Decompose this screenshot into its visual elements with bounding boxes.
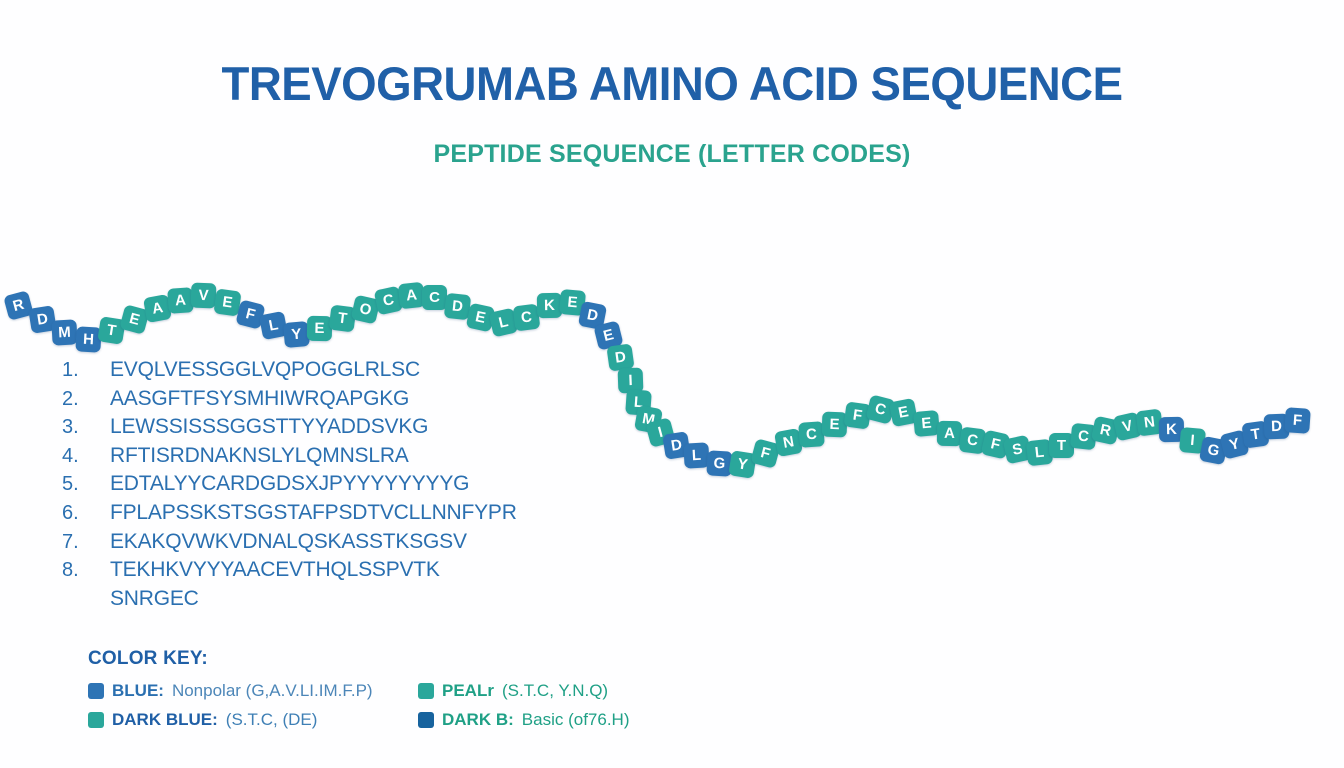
amino-acid-bead[interactable]: C bbox=[798, 421, 825, 448]
color-key-description: Nonpolar (G,A.V.LI.IM.F.P) bbox=[172, 681, 373, 701]
color-key-title: COLOR KEY: bbox=[88, 648, 688, 670]
color-key-label: DARK BLUE: bbox=[112, 710, 218, 730]
page-title: TREVOGRUMAB AMINO ACID SEQUENCE bbox=[20, 56, 1324, 111]
sequence-line: 4.RFTISRDNAKNSLYLQMNSLRA bbox=[62, 444, 582, 473]
sequence-line-text: EDTALYYCARDGDSXJPYYYYYYYYG bbox=[110, 472, 469, 496]
color-key-item: DARK B:Basic (of76.H) bbox=[418, 710, 698, 730]
sequence-line-text: EVQLVESSGGLVQPOGGLRLSC bbox=[110, 358, 420, 382]
sequence-line: 6.FPLAPSSKSTSGSTAFPSDTVCLLNNFYPR bbox=[62, 501, 582, 530]
color-key-item: PEALr(S.T.C, Y.N.Q) bbox=[418, 681, 698, 701]
sequence-line-number: 1. bbox=[62, 359, 110, 382]
amino-acid-bead[interactable]: V bbox=[191, 283, 217, 309]
page-subtitle: PEPTIDE SEQUENCE (LETTER CODES) bbox=[0, 140, 1344, 169]
sequence-line: 3.LEWSSISSSGGSTTYYADDSVKG bbox=[62, 415, 582, 444]
sequence-line-text: LEWSSISSSGGSTTYYADDSVKG bbox=[110, 415, 428, 439]
sequence-line-text: EKAKQVWKVDNALQSKASSTKSGSV bbox=[110, 530, 467, 554]
sequence-line-text: RFTISRDNAKNSLYLQMNSLRA bbox=[110, 444, 409, 468]
sequence-line-number: 7. bbox=[62, 531, 110, 554]
sequence-line: 8.TEKHKVYYYAACEVTHQLSSPVTK bbox=[62, 558, 582, 587]
amino-acid-bead[interactable]: K bbox=[537, 293, 562, 318]
sequence-line: SNRGEC bbox=[62, 587, 582, 616]
color-swatch-icon bbox=[88, 683, 104, 699]
color-swatch-icon bbox=[88, 712, 104, 728]
color-key-label: DARK B: bbox=[442, 710, 514, 730]
color-key-item: BLUE:Nonpolar (G,A.V.LI.IM.F.P) bbox=[88, 681, 418, 701]
sequence-line: 7.EKAKQVWKVDNALQSKASSTKSGSV bbox=[62, 530, 582, 559]
sequence-line: 2.AASGFTFSYSMHIWRQAPGKG bbox=[62, 387, 582, 416]
amino-acid-bead[interactable]: C bbox=[422, 285, 447, 310]
color-swatch-icon bbox=[418, 683, 434, 699]
color-key-description: (S.T.C, Y.N.Q) bbox=[502, 681, 608, 701]
sequence-line-number: 4. bbox=[62, 445, 110, 468]
infographic-canvas: TREVOGRUMAB AMINO ACID SEQUENCE PEPTIDE … bbox=[0, 0, 1344, 768]
amino-acid-bead[interactable]: L bbox=[683, 442, 709, 468]
sequence-list: 1.EVQLVESSGGLVQPOGGLRLSC2.AASGFTFSYSMHIW… bbox=[62, 358, 582, 615]
sequence-line-text: SNRGEC bbox=[110, 587, 199, 611]
sequence-line-number: 2. bbox=[62, 388, 110, 411]
sequence-line-number: 5. bbox=[62, 473, 110, 496]
amino-acid-bead[interactable]: E bbox=[307, 316, 332, 341]
sequence-line-number: 8. bbox=[62, 559, 110, 582]
sequence-line-number: 3. bbox=[62, 416, 110, 439]
amino-acid-bead[interactable]: E bbox=[822, 412, 848, 438]
amino-acid-bead[interactable]: F bbox=[1284, 407, 1311, 434]
sequence-line-text: AASGFTFSYSMHIWRQAPGKG bbox=[110, 387, 409, 411]
sequence-line: 1.EVQLVESSGGLVQPOGGLRLSC bbox=[62, 358, 582, 387]
sequence-line-text: TEKHKVYYYAACEVTHQLSSPVTK bbox=[110, 558, 440, 582]
color-key-label: PEALr bbox=[442, 681, 494, 701]
color-swatch-icon bbox=[418, 712, 434, 728]
amino-acid-bead[interactable]: M bbox=[51, 319, 77, 345]
color-key: COLOR KEY: BLUE:Nonpolar (G,A.V.LI.IM.F.… bbox=[88, 648, 688, 734]
amino-acid-bead[interactable]: A bbox=[937, 421, 962, 446]
sequence-line-text: FPLAPSSKSTSGSTAFPSDTVCLLNNFYPR bbox=[110, 501, 517, 525]
amino-acid-bead[interactable]: E bbox=[913, 410, 940, 437]
color-key-item: DARK BLUE:(S.T.C, (DE) bbox=[88, 710, 418, 730]
color-key-label: BLUE: bbox=[112, 681, 164, 701]
amino-acid-bead[interactable]: H bbox=[75, 326, 101, 352]
sequence-line-number: 6. bbox=[62, 502, 110, 525]
color-key-description: Basic (of76.H) bbox=[522, 710, 630, 730]
sequence-line: 5.EDTALYYCARDGDSXJPYYYYYYYYG bbox=[62, 472, 582, 501]
color-key-description: (S.T.C, (DE) bbox=[226, 710, 318, 730]
color-key-grid: BLUE:Nonpolar (G,A.V.LI.IM.F.P)PEALr(S.T… bbox=[88, 676, 688, 734]
